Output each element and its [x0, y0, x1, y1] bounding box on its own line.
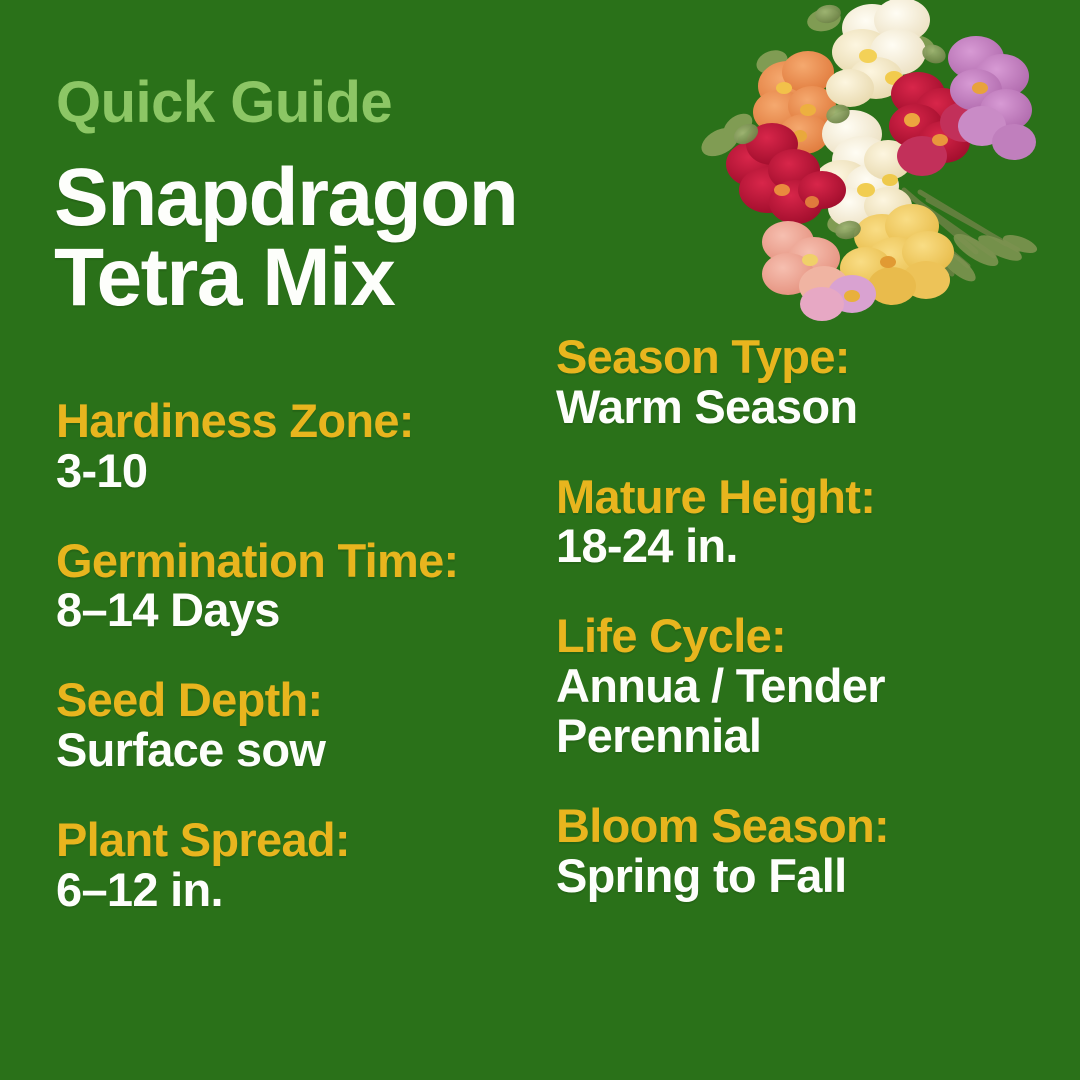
spec-value: Warm Season — [556, 382, 1036, 432]
spec-item-season-type: Season Type: Warm Season — [556, 332, 1036, 432]
spec-item-plant-spread: Plant Spread: 6–12 in. — [56, 815, 526, 915]
spec-item-hardiness-zone: Hardiness Zone: 3-10 — [56, 396, 526, 496]
spec-label: Plant Spread: — [56, 815, 526, 865]
spec-column-right: Season Type: Warm Season Mature Height: … — [556, 332, 1036, 900]
spec-value: Annua / Tender Perennial — [556, 661, 1036, 761]
page-title: Snapdragon Tetra Mix — [54, 158, 517, 319]
spec-value: Surface sow — [56, 725, 526, 775]
spec-label: Mature Height: — [556, 472, 1036, 522]
spec-label: Season Type: — [556, 332, 1036, 382]
spec-item-mature-height: Mature Height: 18-24 in. — [556, 472, 1036, 572]
spec-label: Germination Time: — [56, 536, 526, 586]
spec-value: 8–14 Days — [56, 585, 526, 635]
spec-value: 18-24 in. — [556, 521, 1036, 571]
spec-label: Bloom Season: — [556, 801, 1036, 851]
eyebrow-label: Quick Guide — [56, 74, 392, 132]
spec-value: 3-10 — [56, 446, 526, 496]
snapdragon-bouquet-photo — [676, 0, 1056, 324]
spec-item-bloom-season: Bloom Season: Spring to Fall — [556, 801, 1036, 901]
spec-label: Seed Depth: — [56, 675, 526, 725]
spec-label: Life Cycle: — [556, 611, 1036, 661]
spec-column-left: Hardiness Zone: 3-10 Germination Time: 8… — [56, 396, 526, 915]
spec-item-germination-time: Germination Time: 8–14 Days — [56, 536, 526, 636]
spec-item-life-cycle: Life Cycle: Annua / Tender Perennial — [556, 611, 1036, 760]
spec-value: Spring to Fall — [556, 851, 1036, 901]
spec-label: Hardiness Zone: — [56, 396, 526, 446]
spec-item-seed-depth: Seed Depth: Surface sow — [56, 675, 526, 775]
quick-guide-card: Quick Guide Snapdragon Tetra Mix — [0, 0, 1080, 1080]
spec-value: 6–12 in. — [56, 865, 526, 915]
